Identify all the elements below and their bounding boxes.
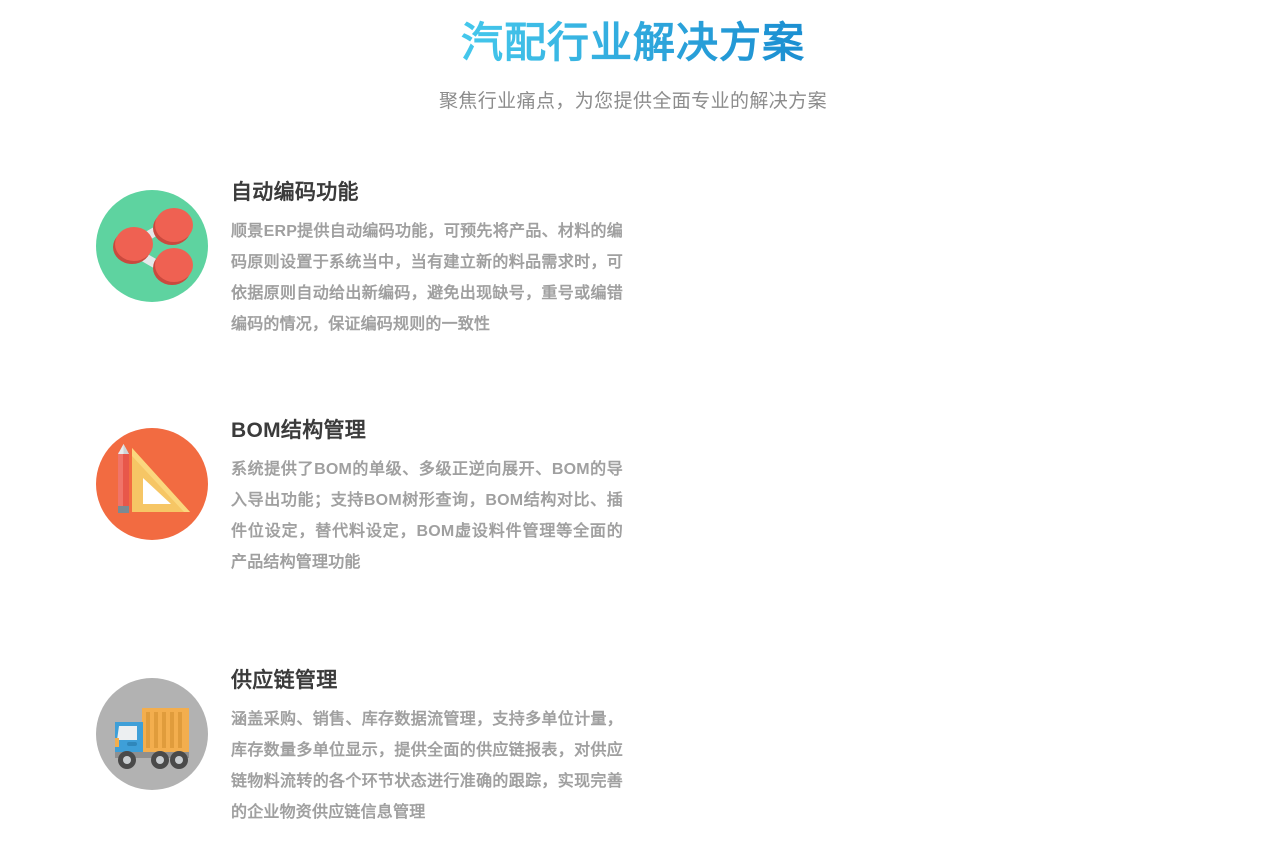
feature-card-production-mgmt[interactable]: 生产管理 采用MRP与生产制令单计划，配以全面的加工流程管控，对车间进行详细生产… (633, 666, 1266, 859)
feature-body: BOM结构管理 系统提供了BOM的单级、多级正逆向展开、BOM的导入导出功能；支… (231, 416, 623, 578)
feature-body: 自动编码功能 顺景ERP提供自动编码功能，可预先将产品、材料的编码原则设置于系统… (231, 178, 623, 340)
feature-icon-wrap (96, 678, 208, 790)
truck-icon (96, 678, 208, 790)
feature-icon-wrap (96, 428, 208, 540)
page-subtitle: 聚焦行业痛点，为您提供全面专业的解决方案 (0, 88, 1266, 116)
feature-grid: 自动编码功能 顺景ERP提供自动编码功能，可预先将产品、材料的编码原则设置于系统… (0, 178, 1266, 859)
feature-body: 供应链管理 涵盖采购、销售、库存数据流管理，支持多单位计量，库存数量多单位显示，… (231, 666, 623, 828)
feature-card-auto-coding[interactable]: 自动编码功能 顺景ERP提供自动编码功能，可预先将产品、材料的编码原则设置于系统… (0, 178, 633, 416)
feature-title: BOM结构管理 (231, 416, 623, 446)
feature-icon-wrap (96, 190, 208, 302)
solutions-page: 汽配行业解决方案 聚焦行业痛点，为您提供全面专业的解决方案 (0, 0, 1266, 859)
feature-card-production-plan[interactable]: 生产计划管理 MRP生产计划可以把销售预测、现有存货、已开立单据纳入，根据BOM… (633, 416, 1266, 666)
page-title: 汽配行业解决方案 (461, 14, 805, 72)
feature-title: 自动编码功能 (231, 178, 623, 208)
feature-description: 顺景ERP提供自动编码功能，可预先将产品、材料的编码原则设置于系统当中，当有建立… (231, 216, 623, 340)
feature-card-supply-chain[interactable]: 供应链管理 涵盖采购、销售、库存数据流管理，支持多单位计量，库存数量多单位显示，… (0, 666, 633, 859)
triangle-ruler-pencil-icon (96, 428, 208, 540)
feature-description: 涵盖采购、销售、库存数据流管理，支持多单位计量，库存数量多单位显示，提供全面的供… (231, 704, 623, 828)
feature-description: 系统提供了BOM的单级、多级正逆向展开、BOM的导入导出功能；支持BOM树形查询… (231, 454, 623, 578)
triangle-ruler-pencil-glyph (96, 428, 208, 540)
page-header: 汽配行业解决方案 聚焦行业痛点，为您提供全面专业的解决方案 (0, 0, 1266, 116)
feature-card-bom-structure[interactable]: BOM结构管理 系统提供了BOM的单级、多级正逆向展开、BOM的导入导出功能；支… (0, 416, 633, 666)
truck-glyph (96, 678, 208, 790)
feature-card-ecn-ecr[interactable]: ECN/ECR管理 顺景ERP提供了【单一物料变更单】和【多种物料变更单】两种变… (633, 178, 1266, 416)
feature-title: 供应链管理 (231, 666, 623, 696)
share-network-icon (96, 190, 208, 302)
share-network-glyph (96, 190, 208, 302)
